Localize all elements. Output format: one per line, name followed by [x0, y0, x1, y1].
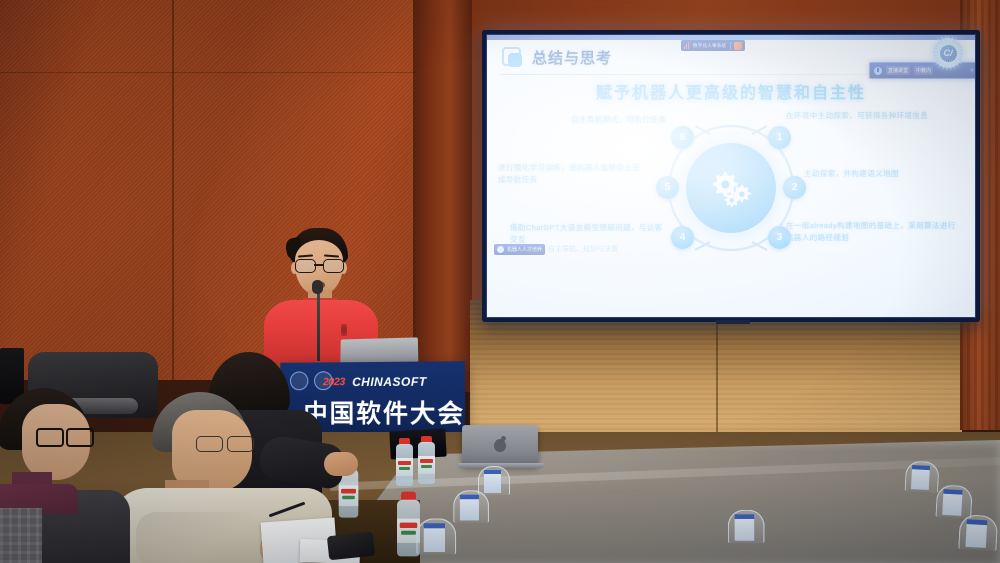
water-bottle[interactable] — [396, 438, 413, 486]
attendee-left — [0, 388, 120, 563]
name-card-holder[interactable] — [958, 514, 996, 552]
conference-photo-scene: 总结与思考 数字化人事系统 直播讲堂 中教内 « C/ — [0, 0, 1000, 563]
wood-wall-left — [0, 0, 470, 380]
podium-year: 2023 — [323, 376, 345, 388]
display-bezel — [482, 30, 980, 322]
name-card-holder[interactable] — [728, 510, 763, 545]
microphone-icon — [312, 280, 323, 294]
microphone-stem — [317, 286, 320, 361]
attendee-plaid-sleeve — [0, 508, 42, 563]
display-stand — [716, 320, 750, 324]
eyeglasses-icon — [295, 259, 343, 271]
apple-logo-icon — [494, 439, 506, 452]
podium-english-name: CHINASOFT — [352, 375, 427, 389]
water-bottle[interactable] — [418, 436, 435, 484]
attendee-hand — [324, 452, 358, 476]
wall-pillar — [416, 0, 472, 392]
eyeglasses-icon — [196, 436, 252, 450]
wall-seam-horizontal — [0, 72, 470, 73]
name-card-holder[interactable] — [904, 460, 937, 493]
presenter-laptop[interactable] — [340, 337, 418, 364]
eyeglasses-icon — [36, 428, 90, 443]
name-card-holder[interactable] — [416, 518, 454, 556]
shirt-graphic — [341, 324, 347, 336]
wall-seam-vertical-1 — [172, 0, 174, 380]
podium-chinese-name: 中国软件大会 — [303, 394, 465, 431]
smartphone[interactable] — [327, 532, 375, 561]
macbook-laptop[interactable] — [462, 425, 538, 466]
name-card-holder[interactable] — [453, 490, 487, 524]
jacket-shadow — [136, 512, 266, 563]
presentation-display[interactable]: 总结与思考 数字化人事系统 直播讲堂 中教内 « C/ — [482, 30, 980, 322]
wall-seam-vertical-2 — [413, 0, 416, 380]
